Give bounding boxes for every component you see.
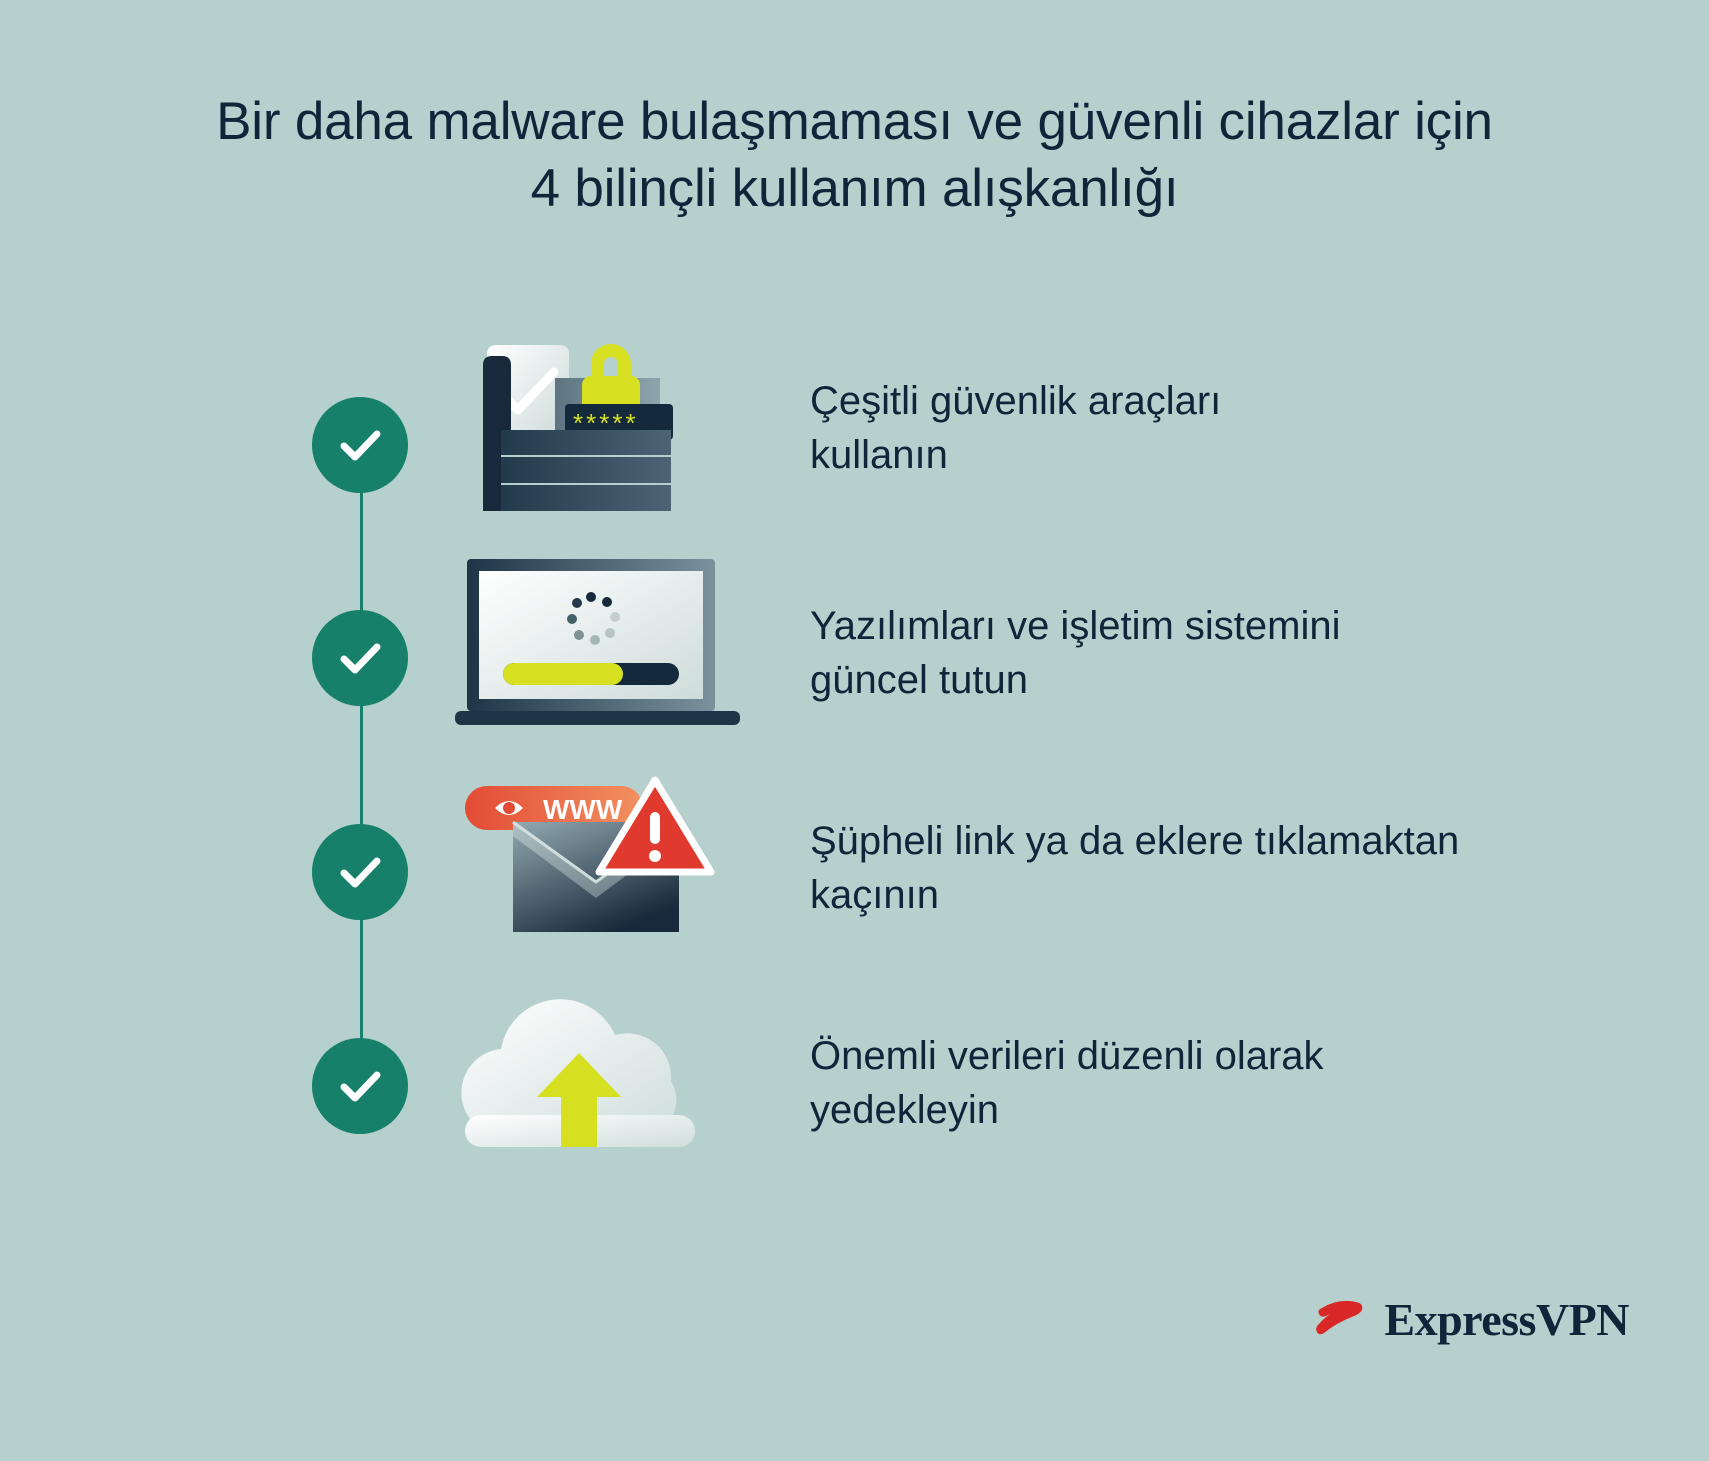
step-text-4-line-1: Önemli verileri düzenli olarak [810, 1029, 1635, 1083]
check-icon [334, 846, 386, 898]
timeline [312, 430, 412, 1110]
timeline-check-node-3 [312, 824, 408, 920]
url-label: WWW [543, 794, 623, 825]
toolbox-security-icon: ***** [455, 320, 745, 535]
expressvpn-wordmark: ExpressVPN [1384, 1293, 1629, 1346]
step-text-1-line-1: Çeşitli güvenlik araçları [810, 374, 1635, 428]
timeline-check-node-2 [312, 610, 408, 706]
step-row-3: WWW Şüpheli link ya da eklere tıklamakta… [455, 760, 1635, 975]
step-row-1: ***** Çeşitli güvenlik araçları kullanın [455, 320, 1635, 535]
expressvpn-e-mark [1308, 1286, 1370, 1353]
title-line-2: 4 bilinçli kullanım alışkanlığı [0, 155, 1709, 222]
laptop-update-icon [455, 545, 745, 760]
check-icon [334, 419, 386, 471]
phishing-email-icon: WWW [455, 760, 745, 975]
step-text-1-line-2: kullanın [810, 428, 1635, 482]
step-text-3-line-1: Şüpheli link ya da eklere tıklamaktan [810, 814, 1635, 868]
step-text-2: Yazılımları ve işletim sistemini güncel … [745, 599, 1635, 707]
timeline-check-node-4 [312, 1038, 408, 1134]
check-icon [334, 1060, 386, 1112]
timeline-check-node-1 [312, 397, 408, 493]
step-text-3-line-2: kaçının [810, 868, 1635, 922]
page-title: Bir daha malware bulaşmaması ve güvenli … [0, 88, 1709, 222]
expressvpn-logo: ExpressVPN [1308, 1286, 1629, 1353]
cloud-backup-icon [455, 975, 745, 1190]
title-line-1: Bir daha malware bulaşmaması ve güvenli … [0, 88, 1709, 155]
progress-bar-fill [503, 663, 623, 685]
step-text-2-line-2: güncel tutun [810, 653, 1635, 707]
timeline-connector-line [360, 448, 363, 1093]
step-row-4: Önemli verileri düzenli olarak yedekleyi… [455, 975, 1635, 1190]
step-text-4-line-2: yedekleyin [810, 1083, 1635, 1137]
step-text-1: Çeşitli güvenlik araçları kullanın [745, 374, 1635, 482]
step-row-2: Yazılımları ve işletim sistemini güncel … [455, 545, 1635, 760]
step-text-2-line-1: Yazılımları ve işletim sistemini [810, 599, 1635, 653]
infographic-canvas: Bir daha malware bulaşmaması ve güvenli … [0, 0, 1709, 1461]
step-text-4: Önemli verileri düzenli olarak yedekleyi… [745, 1029, 1635, 1137]
check-icon [334, 632, 386, 684]
step-text-3: Şüpheli link ya da eklere tıklamaktan ka… [745, 814, 1635, 922]
